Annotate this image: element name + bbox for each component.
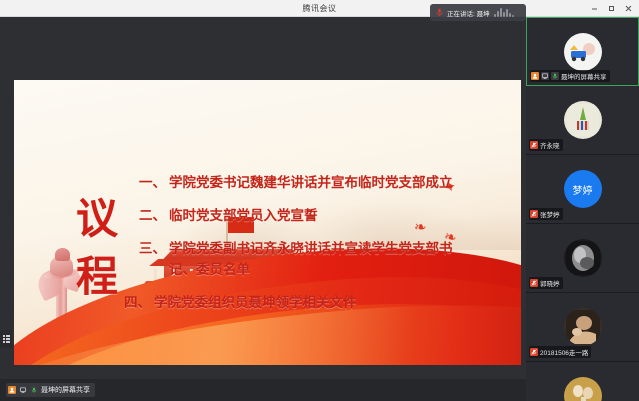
participant-name-bar: 郭晓婷	[529, 277, 563, 289]
maximize-button[interactable]	[603, 0, 620, 17]
participant-name-bar: 齐永晓	[529, 139, 563, 151]
tencent-meeting-window: 腾讯会议	[0, 0, 639, 401]
screen-share-icon	[541, 72, 549, 80]
participant-tile-5[interactable]: 任祥宝	[526, 362, 639, 401]
participant-tile-4[interactable]: 20181506走一路	[526, 293, 639, 362]
agenda-list: 一、 学院党委书记魏建华讲话并宣布临时党支部成立 二、 临时党支部党员入党宣誓 …	[139, 173, 515, 326]
participant-name-bar: 20181506走一路	[529, 346, 591, 358]
agenda-item: 四、 学院党委组织员聂坤领学相关文件	[124, 293, 515, 314]
share-status-pill[interactable]: 聂坤的屏幕共享	[6, 383, 95, 397]
agenda-item-text: 学院党委书记魏建华讲话并宣布临时党支部成立	[169, 173, 515, 194]
microphone-muted-icon	[530, 141, 538, 149]
microphone-muted-icon	[530, 210, 538, 218]
user-orange-icon	[531, 72, 539, 80]
active-speaker-label: 正在讲话: 聂坤	[447, 8, 490, 18]
share-status-label: 聂坤的屏幕共享	[41, 385, 90, 395]
minimize-button[interactable]	[586, 0, 603, 17]
agenda-item: 二、 临时党支部党员入党宣誓	[139, 206, 515, 227]
agenda-item-number: 二、	[139, 206, 166, 227]
participant-tile-0[interactable]: 聂坤的屏幕共享	[526, 17, 639, 86]
agenda-item-number: 三、	[139, 239, 166, 260]
avatar	[564, 308, 602, 346]
microphone-green-icon	[30, 386, 38, 394]
participant-name: 郭晓婷	[540, 278, 560, 288]
participant-name: 齐永晓	[540, 140, 560, 150]
participant-name: 聂坤的屏幕共享	[561, 71, 607, 81]
audio-waveform-icon	[494, 8, 514, 17]
agenda-item-number: 一、	[139, 173, 166, 194]
avatar	[564, 33, 602, 71]
close-button[interactable]	[620, 0, 637, 17]
participant-name-bar: 张梦婷	[529, 208, 563, 220]
agenda-item: 三、 学院党委副书记齐永晓讲话并宣读学生党支部书记、委员名单	[139, 239, 515, 281]
agenda-item: 一、 学院党委书记魏建华讲话并宣布临时党支部成立	[139, 173, 515, 194]
slide-controls-handle[interactable]	[0, 330, 12, 348]
agenda-item-number: 四、	[124, 293, 151, 314]
participant-name-bar: 聂坤的屏幕共享	[530, 70, 610, 82]
avatar	[564, 239, 602, 277]
slide-big-character-2: 程	[76, 256, 119, 298]
screen-share-icon	[19, 386, 27, 394]
user-orange-icon	[8, 386, 16, 394]
microphone-muted-icon	[530, 348, 538, 356]
microphone-icon	[436, 4, 443, 22]
participant-name: 20181506走一路	[540, 347, 588, 357]
agenda-item-text: 临时党支部党员入党宣誓	[169, 206, 515, 227]
active-speaker-badge: 正在讲话: 聂坤	[430, 4, 526, 21]
avatar	[564, 101, 602, 139]
agenda-item-text: 学院党委副书记齐永晓讲话并宣读学生党支部书记、委员名单	[169, 239, 469, 281]
microphone-green-icon	[551, 72, 559, 80]
participant-tile-1[interactable]: 齐永晓	[526, 86, 639, 155]
avatar: 梦婷	[564, 170, 602, 208]
window-controls	[586, 0, 637, 17]
participant-name: 张梦婷	[540, 209, 560, 219]
slide-big-character-1: 议	[76, 198, 119, 240]
shared-screen-slide[interactable]: ✦ ❧ ❧ 议 程 一、 学院党委书记魏建华讲话并宣布临时党支部成立 二、 临时…	[14, 80, 521, 365]
participant-video-rail[interactable]: 聂坤的屏幕共享 齐永晓 梦婷	[526, 17, 639, 401]
window-title-bar: 腾讯会议	[0, 0, 639, 17]
screen-share-status-bar: 聂坤的屏幕共享	[0, 379, 526, 401]
agenda-item-text: 学院党委组织员聂坤领学相关文件	[154, 293, 515, 314]
avatar	[564, 377, 602, 401]
microphone-muted-icon	[530, 279, 538, 287]
window-title: 腾讯会议	[303, 3, 337, 14]
participant-tile-2[interactable]: 梦婷 张梦婷	[526, 155, 639, 224]
participant-tile-3[interactable]: 郭晓婷	[526, 224, 639, 293]
list-menu-icon	[3, 335, 10, 343]
